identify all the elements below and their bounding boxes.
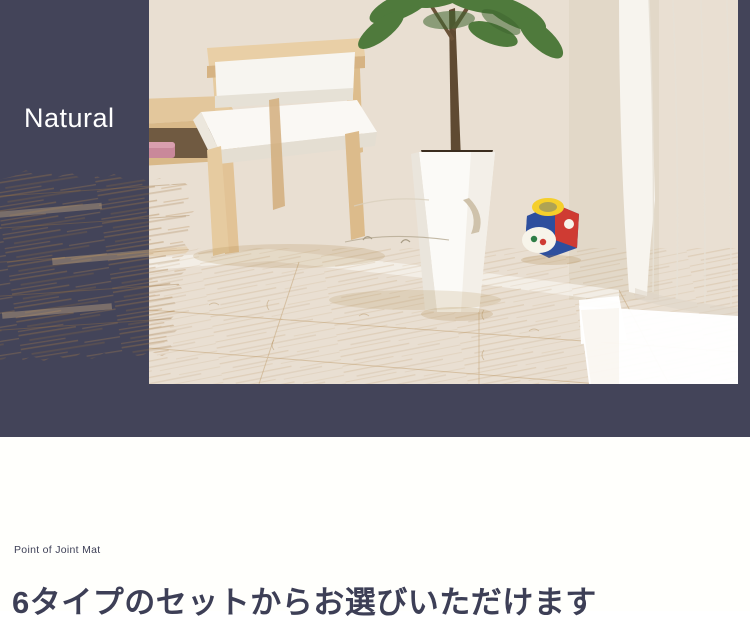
joint-mat-tile-overlay bbox=[0, 168, 242, 383]
lower-content: Point of Joint Mat 6タイプのセットからお選びいただけます bbox=[0, 437, 750, 611]
joint-mat-tile-illustration bbox=[0, 168, 242, 383]
section-eyebrow: Point of Joint Mat bbox=[14, 544, 101, 556]
page-root: Natural bbox=[0, 0, 750, 611]
hero-label-natural: Natural bbox=[24, 105, 115, 132]
hero-banner: Natural bbox=[0, 0, 750, 437]
section-headline: 6タイプのセットからお選びいただけます bbox=[12, 585, 597, 621]
